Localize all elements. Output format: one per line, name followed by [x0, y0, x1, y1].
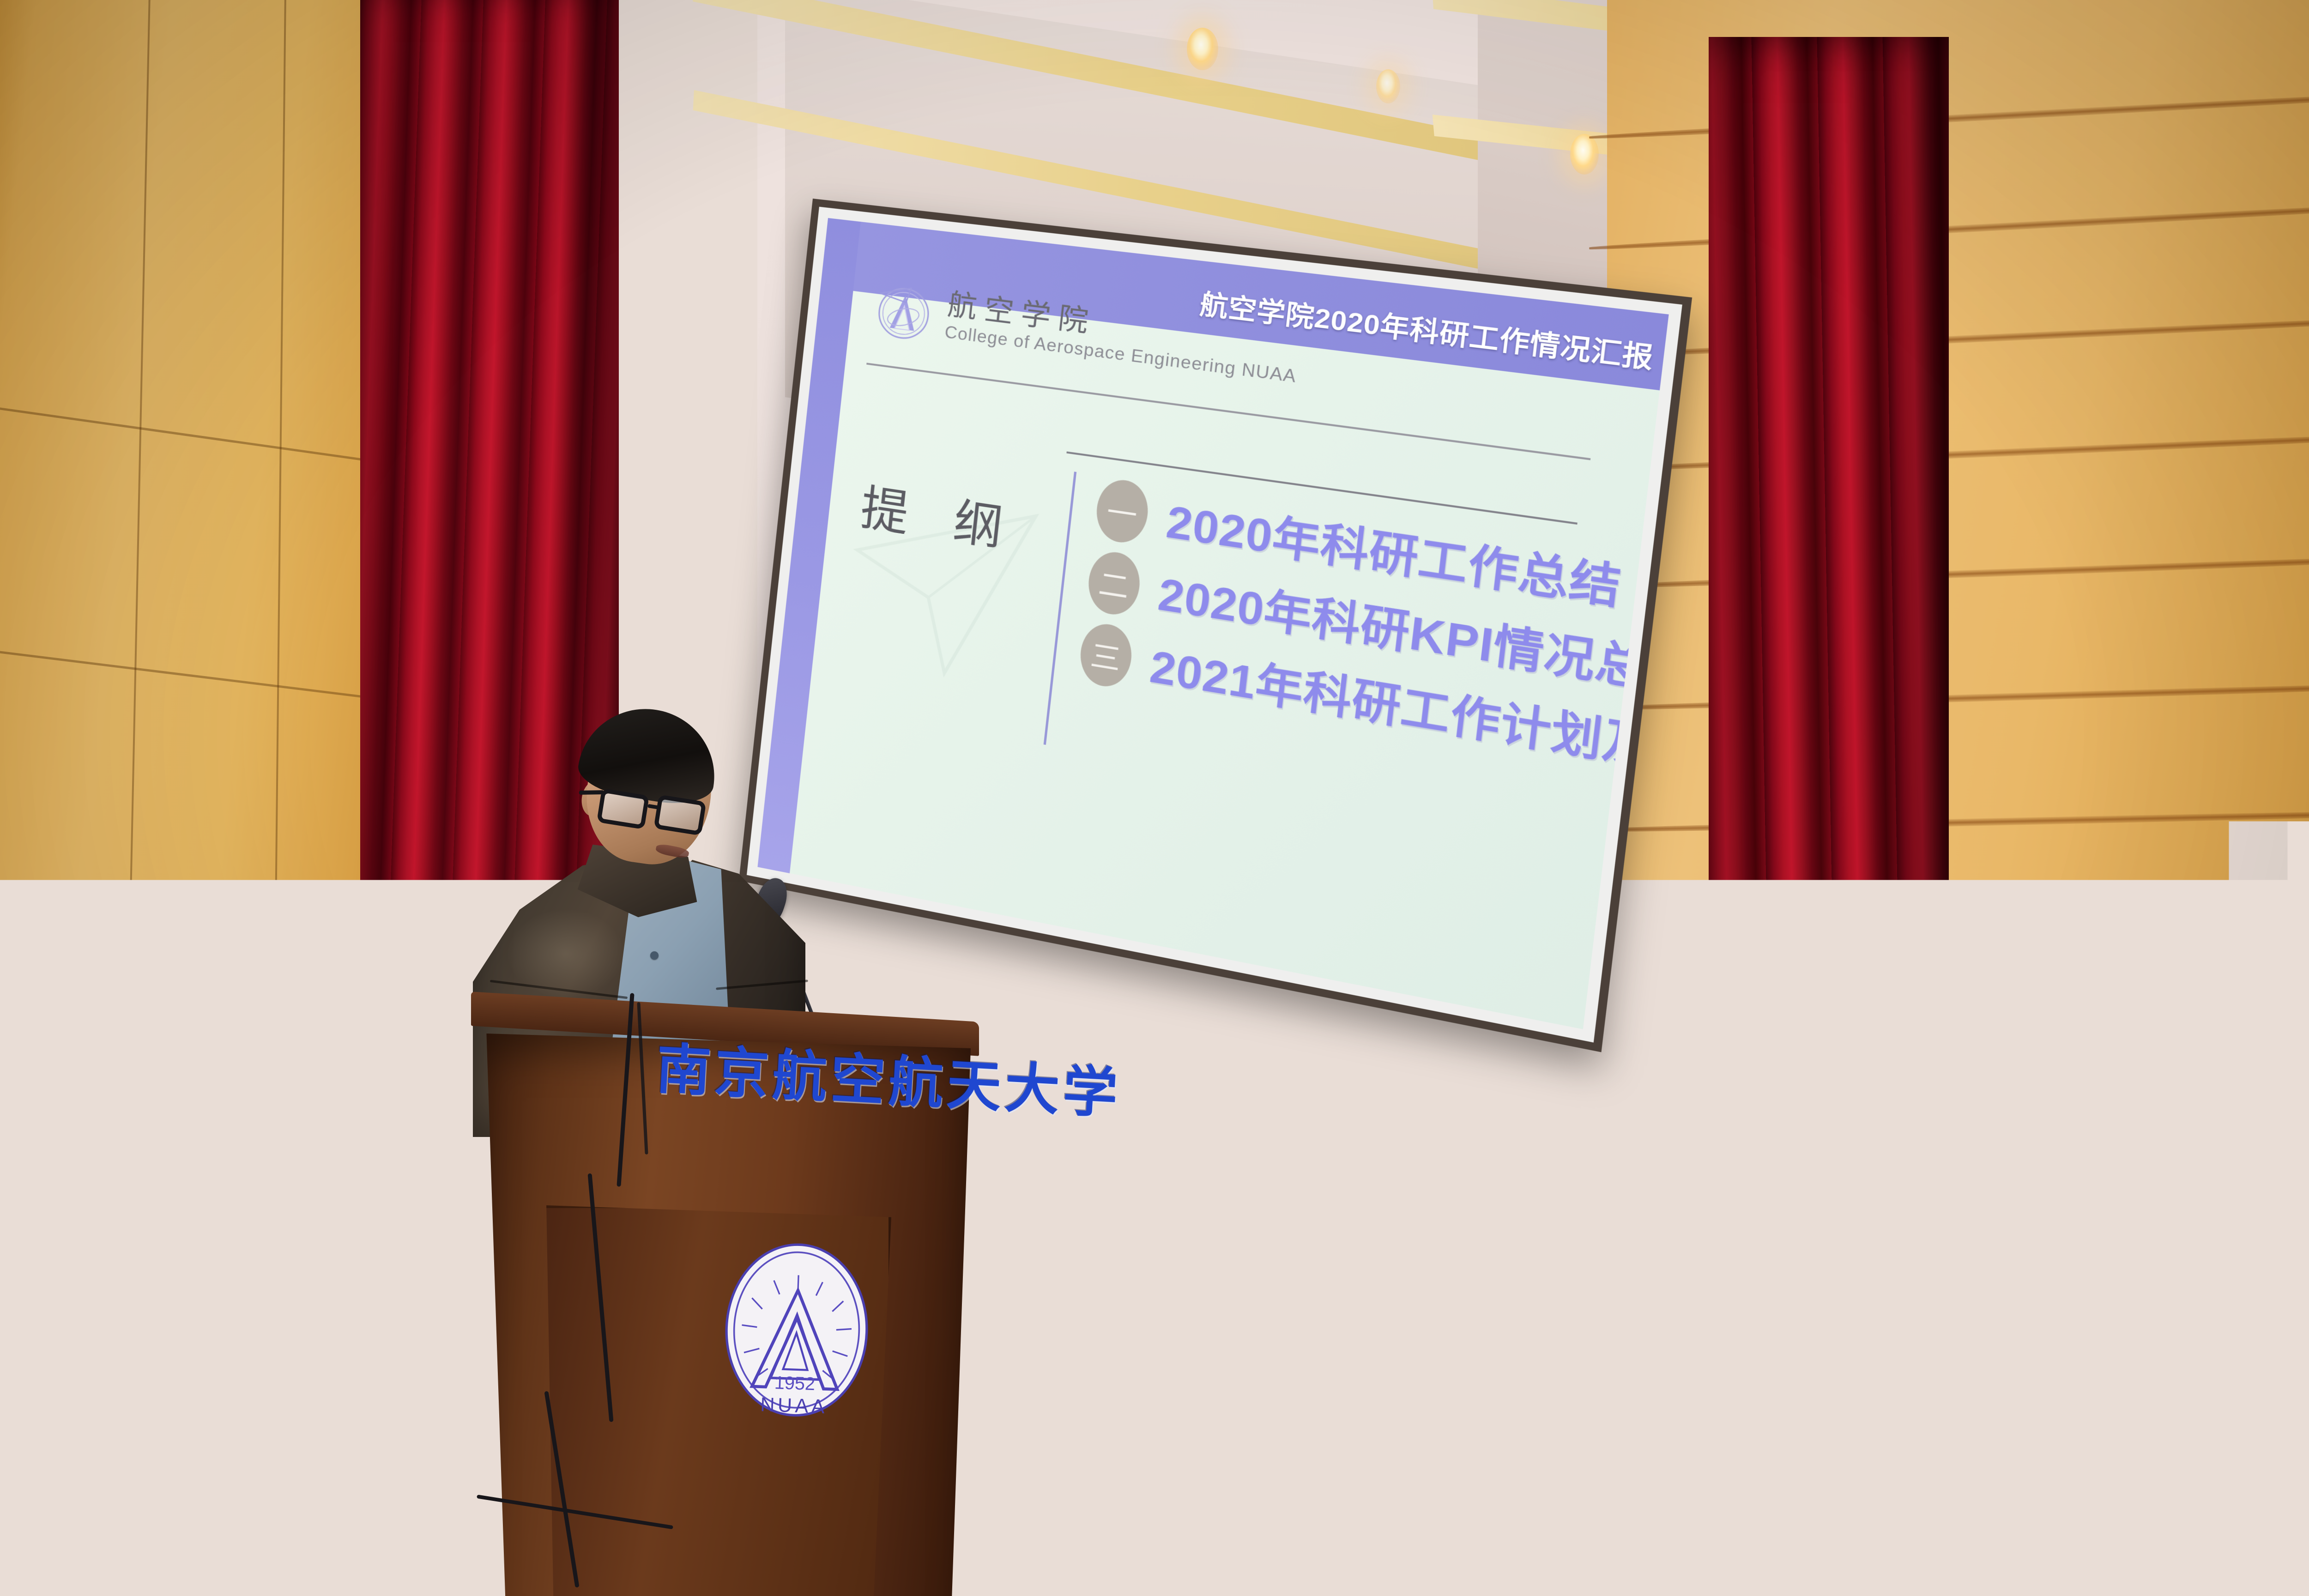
- downlight-4: [1570, 134, 1599, 175]
- outline-number-1: 一: [1094, 477, 1151, 546]
- presentation-slide: 航空学院2020年科研工作情况汇报 航空学院 College of: [757, 218, 1668, 1029]
- glasses-temple: [579, 790, 604, 795]
- outline-number-3: 三: [1077, 621, 1135, 690]
- emblem-abbr: NUAA: [760, 1394, 828, 1418]
- outline-item-list: 一 2020年科研工作总结 二 2020年科研KPI情况总结 三 2021年科研…: [1076, 475, 1669, 804]
- nuaa-aerospace-seal-icon: [870, 278, 937, 347]
- outline-number-2: 二: [1086, 549, 1143, 618]
- wooden-step-riser: [145, 1381, 404, 1505]
- glasses-lens-right: [653, 794, 706, 835]
- downlight-9: [1376, 69, 1400, 103]
- emblem-year: 1952: [774, 1372, 816, 1394]
- glasses-lens-left: [597, 788, 649, 829]
- outline-section-label: 提 纲: [858, 442, 1074, 569]
- downlight-1: [1187, 28, 1218, 70]
- podium-nameplate: 南京航空航天大学: [653, 1024, 963, 1142]
- jacket-highlight: [508, 910, 623, 997]
- right-stage-curtain: [1709, 37, 1949, 1348]
- shirt-button-1: [650, 951, 659, 960]
- lecture-hall-photo: 航空学院2020年科研工作情况汇报 航空学院 College of: [0, 0, 2309, 1596]
- slide-outline: 提 纲 一 2020年科研工作总结 二 2020年科研KPI情况总结 三: [839, 442, 1619, 839]
- nuaa-university-emblem: 1952 NUAA: [717, 1235, 876, 1425]
